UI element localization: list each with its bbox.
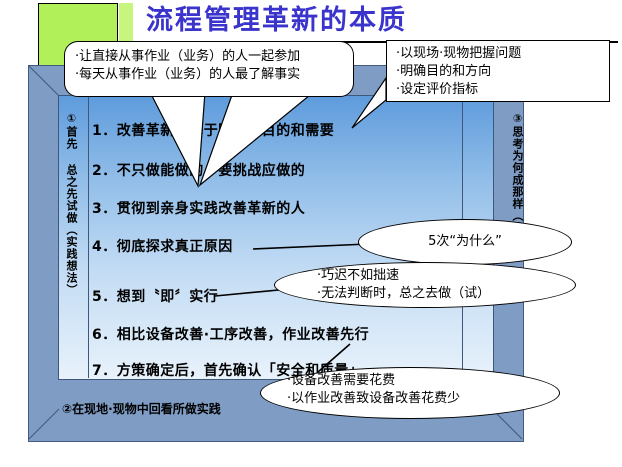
- callout-line: ·每天从事作业（业务）的人最了解事实: [75, 66, 343, 84]
- callout-line: ·设备改善需要花费: [287, 372, 559, 390]
- callout-line: 5次“为什么”: [359, 220, 571, 264]
- slide-canvas: 流程管理革新的本质 ①首先 总之先试做（实践想法） ③思考为何成那样（求真） ②…: [0, 0, 622, 467]
- callout-genba: ·以现场·现物把握问题 ·明确目的和方向 ·设定评价指标: [386, 40, 610, 102]
- callout-line: ·让直接从事作业（业务）的人一起参加: [75, 48, 343, 66]
- callout-line: ·巧迟不如拙速: [317, 267, 575, 285]
- callout-line: ·以现场·现物把握问题: [396, 45, 600, 63]
- callout-line: ·以作业改善致设备改善花费少: [287, 390, 559, 408]
- callout-line: ·设定评价指标: [396, 81, 600, 99]
- callout-participation: ·让直接从事作业（业务）的人一起参加 ·每天从事作业（业务）的人最了解事实: [64, 41, 354, 97]
- callout-line: ·无法判断时，总之去做（试）: [317, 285, 575, 303]
- callout-cost: ·设备改善需要花费 ·以作业改善致设备改善花费少: [260, 367, 560, 419]
- callout-five-whys: 5次“为什么”: [358, 219, 572, 265]
- callout-line: ·明确目的和方向: [396, 63, 600, 81]
- callout-speed: ·巧迟不如拙速 ·无法判断时，总之去做（试）: [274, 262, 576, 308]
